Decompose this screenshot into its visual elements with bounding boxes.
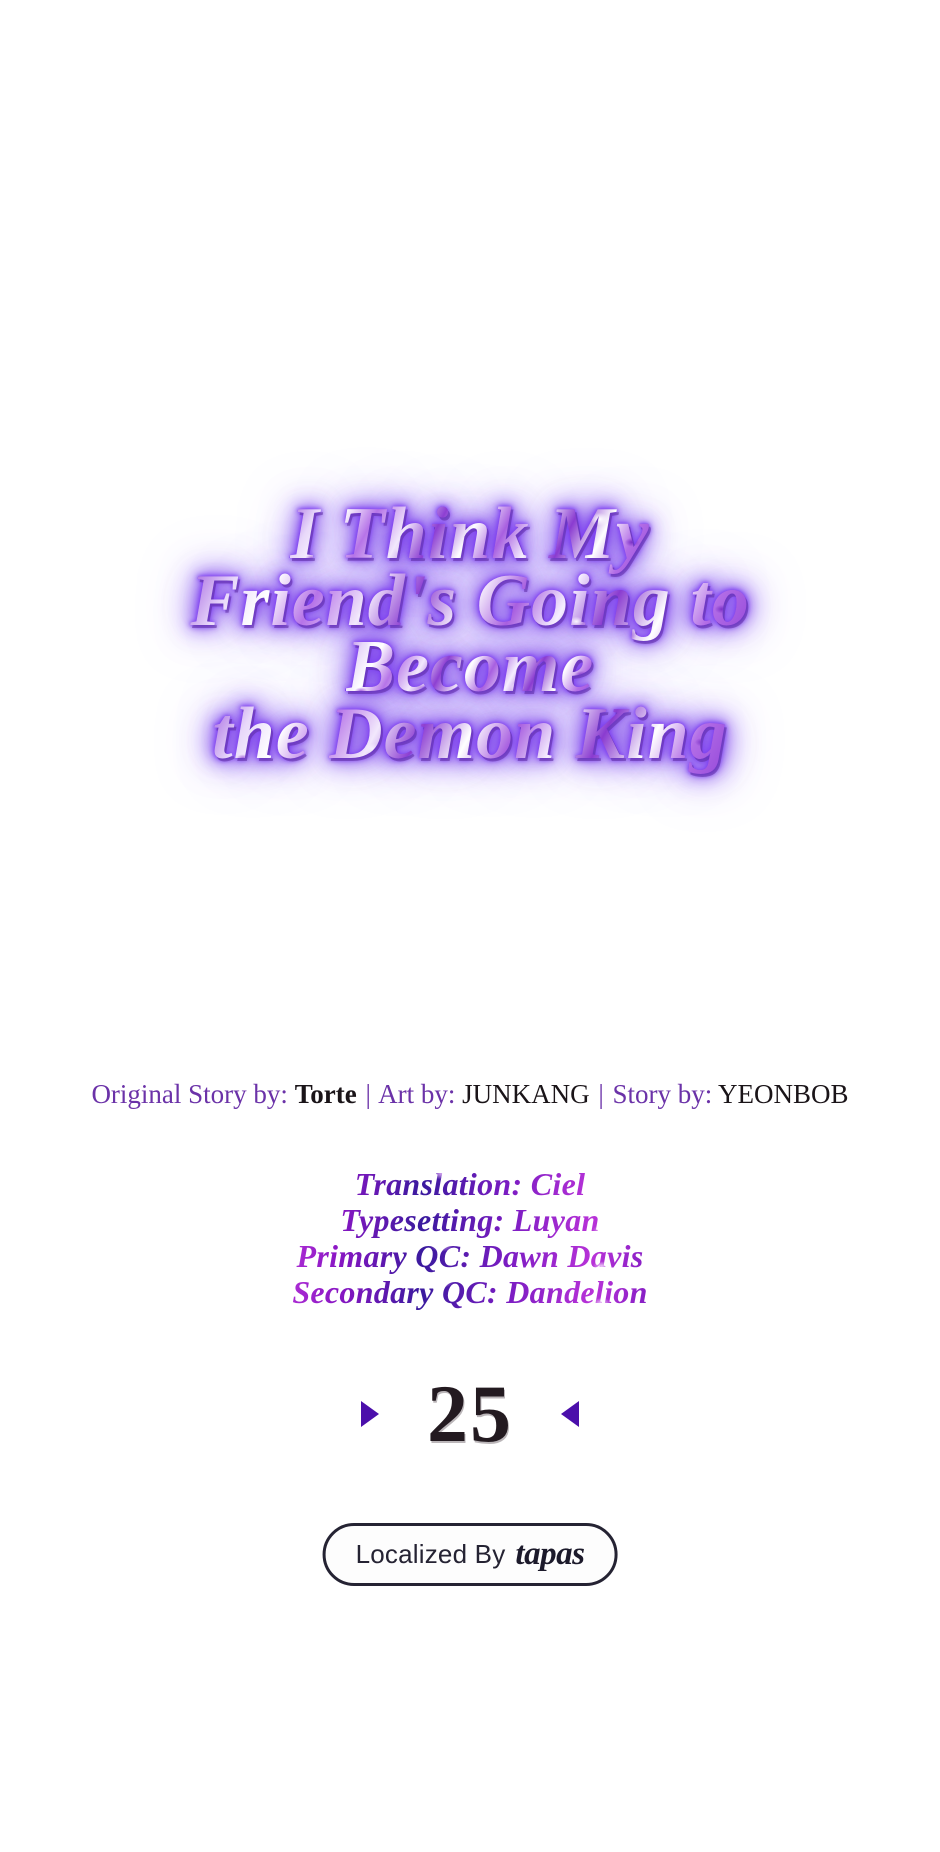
staff-credits-block: Translation: Ciel Typesetting: Luyan Pri… <box>0 1166 940 1311</box>
staff-credit-secondary-qc: Secondary QC: Dandelion <box>0 1274 940 1310</box>
staff-credit-translation: Translation: Ciel <box>0 1166 940 1202</box>
original-story-name: Torte <box>295 1079 357 1109</box>
story-label: Story by: <box>613 1079 713 1109</box>
triangle-left-icon <box>561 1401 579 1427</box>
title-line-4: the Demon King the Demon King <box>0 698 940 771</box>
credits-separator-1: | <box>363 1079 372 1109</box>
credits-separator-2: | <box>596 1079 605 1109</box>
localized-by-label: Localized By <box>356 1541 506 1567</box>
author-credits-line: Original Story by: Torte | Art by: JUNKA… <box>0 1078 940 1110</box>
staff-credit-typesetting: Typesetting: Luyan <box>0 1202 940 1238</box>
chapter-number-row: 25 <box>0 1373 940 1455</box>
title-line-4-text: the Demon King <box>212 693 728 775</box>
localized-by-tapas-badge: Localized By tapas <box>323 1523 618 1586</box>
chapter-number: 25 <box>427 1373 513 1455</box>
tapas-logo-wordmark: tapas <box>515 1538 584 1571</box>
original-story-label: Original Story by: <box>91 1079 288 1109</box>
art-label: Art by: <box>378 1079 455 1109</box>
chapter-title-block: I Think My I Think My Friend's Going to … <box>0 498 940 770</box>
story-name: YEONBOB <box>718 1079 849 1109</box>
art-name: JUNKANG <box>462 1079 590 1109</box>
staff-credit-primary-qc: Primary QC: Dawn Davis <box>0 1238 940 1274</box>
triangle-right-icon <box>361 1401 379 1427</box>
